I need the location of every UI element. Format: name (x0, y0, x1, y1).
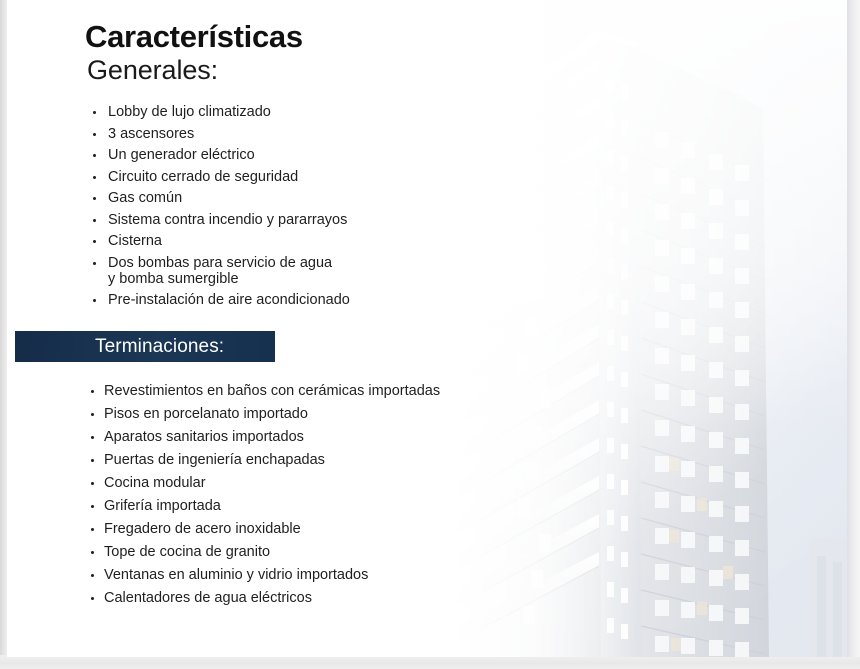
list-item: Dos bombas para servicio de agua y bomba… (108, 255, 498, 287)
content-column: Características Generales: Lobby de lujo… (7, 0, 507, 657)
list-item: Revestimientos en baños con cerámicas im… (104, 383, 504, 400)
list-item: Sistema contra incendio y pararrayos (108, 212, 498, 228)
features-terminaciones-list: Revestimientos en baños con cerámicas im… (104, 383, 504, 613)
list-item: Ventanas en aluminio y vidrio importados (104, 567, 504, 584)
list-item: Puertas de ingeniería enchapadas (104, 452, 504, 469)
title-main: Características (85, 20, 303, 53)
list-item: Cocina modular (104, 475, 504, 492)
slide-canvas: Características Generales: Lobby de lujo… (0, 0, 860, 669)
list-item: Pisos en porcelanato importado (104, 406, 504, 423)
photo-right-border (847, 0, 860, 657)
features-generales-list: Lobby de lujo climatizado 3 ascensores U… (108, 104, 498, 314)
list-item: Fregadero de acero inoxidable (104, 521, 504, 538)
section-banner-terminaciones: Terminaciones: (15, 331, 275, 362)
list-item: Calentadores de agua eléctricos (104, 590, 504, 607)
list-item: Pre-instalación de aire acondicionado (108, 292, 498, 308)
page-edge-shadow-bottom (0, 655, 860, 669)
title-subtitle: Generales: (87, 55, 303, 85)
list-item: 3 ascensores (108, 126, 498, 142)
list-item: Un generador eléctrico (108, 147, 498, 163)
list-item: Tope de cocina de granito (104, 544, 504, 561)
list-item: Cisterna (108, 233, 498, 249)
list-item: Gas común (108, 190, 498, 206)
list-item: Aparatos sanitarios importados (104, 429, 504, 446)
section-banner-label: Terminaciones: (95, 336, 224, 358)
slide-page: Características Generales: Lobby de lujo… (7, 0, 860, 657)
list-item: Grifería importada (104, 498, 504, 515)
list-item: Lobby de lujo climatizado (108, 104, 498, 120)
page-title: Características Generales: (85, 20, 303, 86)
list-item: Circuito cerrado de seguridad (108, 169, 498, 185)
